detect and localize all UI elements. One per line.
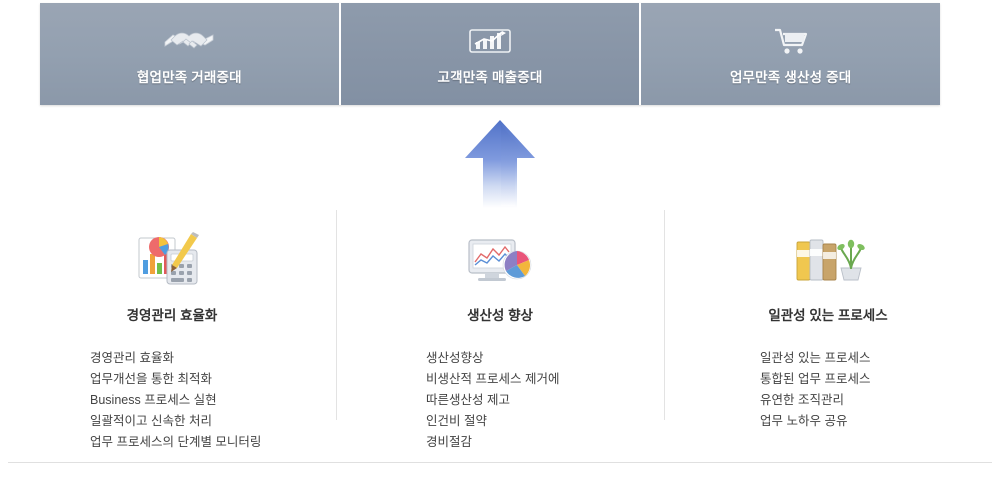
detail-column-productivity-improvement: 생산성 향상 생산성향상 비생산적 프로세스 제거에 따른생산성 제고 인건비 …	[336, 210, 664, 450]
handshake-icon	[163, 22, 215, 56]
column-item-list: 일관성 있는 프로세스 통합된 업무 프로세스 유연한 조직관리 업무 노하우 …	[664, 348, 992, 432]
list-item: Business 프로세스 실현	[90, 390, 336, 411]
calculator-chart-icon	[8, 228, 336, 290]
list-item: 비생산적 프로세스 제거에	[426, 369, 664, 390]
binders-plant-icon	[664, 228, 992, 290]
column-title: 경영관리 효율화	[8, 304, 336, 324]
list-item: 통합된 업무 프로세스	[760, 369, 992, 390]
banner-card-label: 고객만족 매출증대	[438, 66, 543, 86]
list-item: 일괄적이고 신속한 처리	[90, 411, 336, 432]
list-item: 생산성향상	[426, 348, 664, 369]
shopping-cart-icon	[772, 22, 810, 56]
column-item-list: 경영관리 효율화 업무개선을 통한 최적화 Business 프로세스 실현 일…	[8, 348, 336, 453]
benefits-banner: 협업만족 거래증대 고객만족 매출증대 업무만족 생산성 증대	[40, 3, 940, 105]
detail-column-consistent-process: 일관성 있는 프로세스 일관성 있는 프로세스 통합된 업무 프로세스 유연한 …	[664, 210, 992, 450]
column-item-list: 생산성향상 비생산적 프로세스 제거에 따른생산성 제고 인건비 절약 경비절감	[336, 348, 664, 453]
banner-card-collaboration[interactable]: 협업만족 거래증대	[40, 3, 341, 105]
list-item: 업무 노하우 공유	[760, 411, 992, 432]
up-arrow-icon	[455, 118, 545, 210]
column-title: 일관성 있는 프로세스	[664, 304, 992, 324]
banner-card-customer-satisfaction[interactable]: 고객만족 매출증대	[341, 3, 642, 105]
banner-card-productivity[interactable]: 업무만족 생산성 증대	[641, 3, 940, 105]
banner-card-label: 협업만족 거래증대	[137, 66, 242, 86]
column-divider	[336, 210, 337, 420]
monitor-piechart-icon	[336, 228, 664, 290]
detail-column-management-efficiency: 경영관리 효율화 경영관리 효율화 업무개선을 통한 최적화 Business …	[8, 210, 336, 450]
column-divider	[664, 210, 665, 420]
detail-columns: 경영관리 효율화 경영관리 효율화 업무개선을 통한 최적화 Business …	[8, 210, 992, 450]
list-item: 업무 프로세스의 단계별 모니터링	[90, 432, 336, 453]
list-item: 경비절감	[426, 432, 664, 453]
list-item: 경영관리 효율화	[90, 348, 336, 369]
growth-chart-icon	[468, 22, 512, 56]
banner-card-label: 업무만족 생산성 증대	[730, 66, 851, 86]
column-title: 생산성 향상	[336, 304, 664, 324]
list-item: 유연한 조직관리	[760, 390, 992, 411]
list-item: 일관성 있는 프로세스	[760, 348, 992, 369]
list-item: 업무개선을 통한 최적화	[90, 369, 336, 390]
list-item: 따른생산성 제고	[426, 390, 664, 411]
bottom-divider	[8, 462, 992, 463]
list-item: 인건비 절약	[426, 411, 664, 432]
